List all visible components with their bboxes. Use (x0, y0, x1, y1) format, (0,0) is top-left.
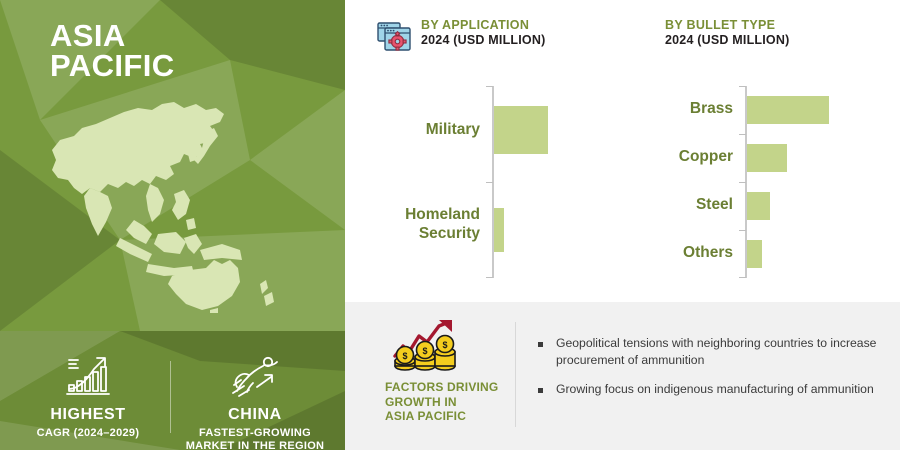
bar-others (747, 240, 762, 268)
region-panel: ASIA PACIFIC (0, 0, 345, 450)
bullet-square-icon (538, 388, 543, 393)
rocket-person-icon (175, 349, 335, 399)
growth-bar-chart-arrow-icon (8, 349, 168, 399)
category-label-others: Others (625, 243, 733, 262)
list-item-text: Geopolitical tensions with neighboring c… (556, 335, 883, 369)
stat-title: CHINA (175, 406, 335, 424)
axis-tick (739, 182, 746, 183)
coins-growth-arrow-icon: $ $ (389, 316, 461, 374)
category-label-brass: Brass (625, 99, 733, 118)
category-label-line1: Homeland (365, 205, 480, 224)
list-item: Geopolitical tensions with neighboring c… (538, 335, 883, 369)
bar-homeland-security (494, 208, 504, 252)
axis-tick (739, 86, 746, 87)
factors-title: FACTORS DRIVING GROWTH IN ASIA PACIFIC (385, 380, 515, 424)
list-item-text: Growing focus on indigenous manufacturin… (556, 381, 874, 398)
factors-bullet-list: Geopolitical tensions with neighboring c… (538, 335, 883, 410)
stat-divider (170, 361, 171, 433)
bar-military (494, 106, 548, 154)
bar-copper (747, 144, 787, 172)
region-panel-top: ASIA PACIFIC (0, 0, 345, 331)
svg-text:$: $ (402, 351, 407, 361)
list-item: Growing focus on indigenous manufacturin… (538, 381, 883, 398)
axis-tick (486, 182, 493, 183)
stat-china-fastest-growing: CHINA FASTEST-GROWING MARKET IN THE REGI… (175, 349, 335, 450)
factors-title-line1: FACTORS DRIVING (385, 380, 515, 395)
svg-text:$: $ (442, 340, 447, 350)
category-label-homeland-security: Homeland Security (365, 205, 480, 243)
axis-tick (486, 86, 493, 87)
chart-by-application: BY APPLICATION 2024 (USD MILLION) Milita… (365, 0, 620, 302)
category-label-copper: Copper (625, 147, 733, 166)
factors-driving-growth: $ $ (385, 316, 515, 424)
charts-area: BY APPLICATION 2024 (USD MILLION) Milita… (345, 0, 900, 302)
category-label-line2: Security (365, 224, 480, 243)
region-title-line2: PACIFIC (50, 51, 175, 81)
page-title: ASIA PACIFIC (50, 21, 175, 81)
stat-subtitle: FASTEST-GROWING MARKET IN THE REGION (175, 427, 335, 450)
chart-by-bullet-type: BY BULLET TYPE 2024 (USD MILLION) Brass … (625, 0, 900, 302)
bullet-type-plot: Brass Copper Steel Others (625, 0, 900, 302)
axis-tick (739, 277, 746, 278)
axis-tick (739, 134, 746, 135)
factors-area: $ $ (345, 302, 900, 450)
axis-tick (739, 230, 746, 231)
axis-tick (486, 277, 493, 278)
factors-divider (515, 322, 516, 427)
stat-highest-cagr: HIGHEST CAGR (2024–2029) (8, 349, 168, 440)
stat-subtitle-line1: FASTEST-GROWING (175, 427, 335, 440)
bullet-square-icon (538, 342, 543, 347)
stat-subtitle: CAGR (2024–2029) (8, 427, 168, 440)
bar-brass (747, 96, 829, 124)
application-plot: Military Homeland Security (365, 0, 620, 302)
stat-subtitle-line2: MARKET IN THE REGION (175, 440, 335, 450)
category-label-military: Military (365, 120, 480, 139)
stat-title: HIGHEST (8, 406, 168, 424)
category-label-steel: Steel (625, 195, 733, 214)
factors-title-line2: GROWTH IN (385, 395, 515, 410)
infographic-canvas: ASIA PACIFIC (0, 0, 900, 450)
asia-pacific-map-icon (34, 88, 314, 313)
bar-steel (747, 192, 770, 220)
region-panel-bottom: HIGHEST CAGR (2024–2029) (0, 331, 345, 450)
factors-title-line3: ASIA PACIFIC (385, 409, 515, 424)
svg-text:$: $ (422, 346, 427, 356)
